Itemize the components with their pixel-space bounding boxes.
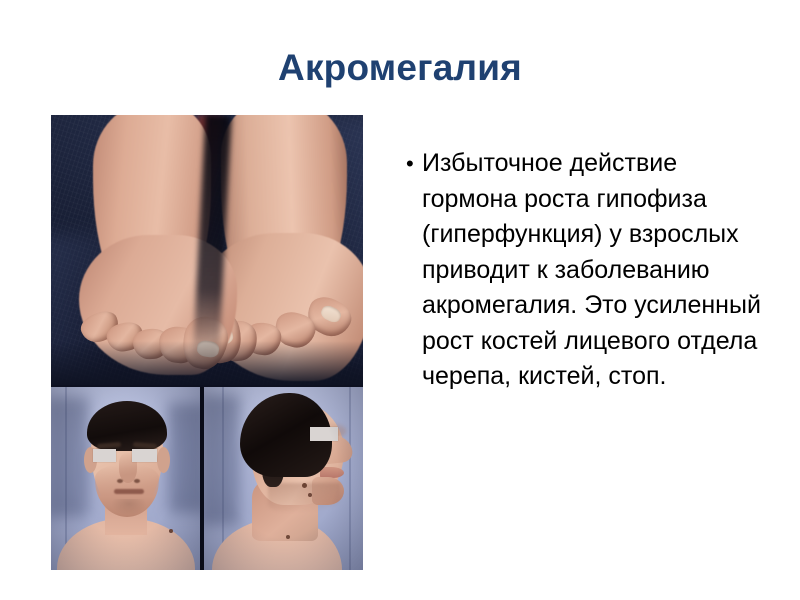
- bullet-text: Избыточное действие гормона роста гипофи…: [422, 146, 774, 395]
- photo-vignette: [204, 387, 363, 570]
- photo-collage: [51, 115, 363, 570]
- body-text-block: • Избыточное действие гормона роста гипо…: [404, 146, 774, 395]
- acromegalic-feet-photo: [51, 115, 363, 385]
- bottom-shadow: [51, 341, 363, 385]
- bullet-marker-icon: •: [404, 146, 422, 182]
- patient-face-frontal-photo: [51, 387, 200, 570]
- photo-vignette: [51, 387, 200, 570]
- page-title: Акромегалия: [0, 46, 800, 90]
- patient-face-profile-photo: [204, 387, 363, 570]
- list-item: • Избыточное действие гормона роста гипо…: [404, 146, 774, 395]
- patient-portrait-pair: [51, 387, 363, 570]
